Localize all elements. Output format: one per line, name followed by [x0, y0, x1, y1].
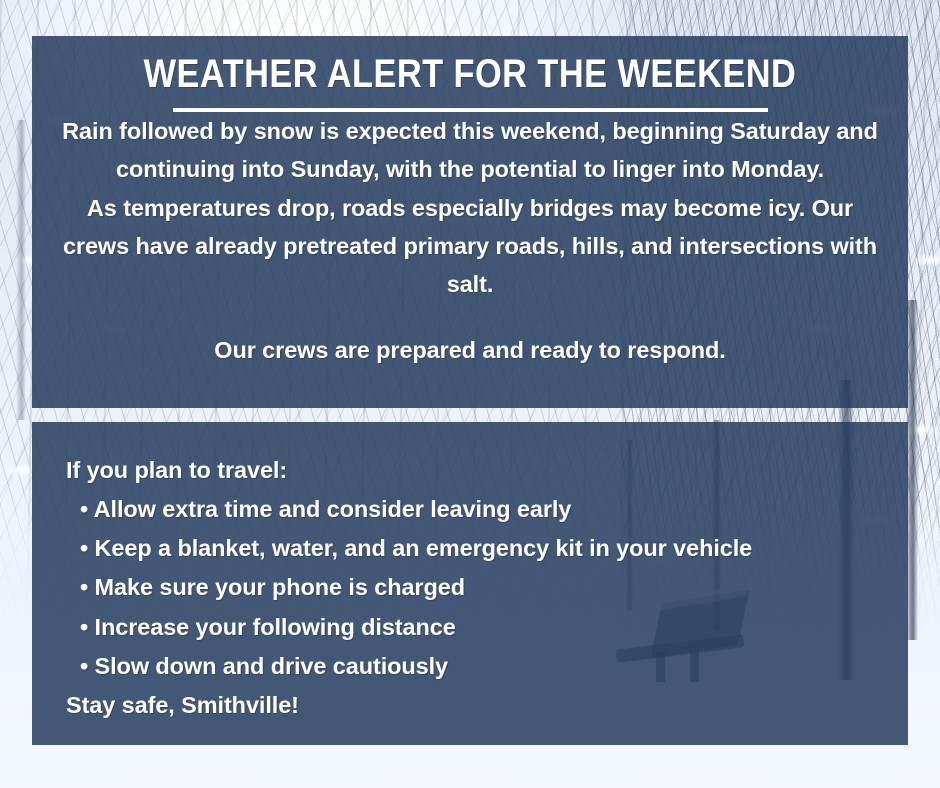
- travel-tips-panel: If you plan to travel: • Allow extra tim…: [32, 422, 908, 745]
- list-item: • Increase your following distance: [80, 609, 882, 646]
- travel-tips-list: • Allow extra time and consider leaving …: [58, 491, 882, 685]
- alert-title-block: WEATHER ALERT FOR THE WEEKEND: [58, 54, 882, 112]
- alert-title: WEATHER ALERT FOR THE WEEKEND: [116, 54, 825, 94]
- list-item: • Keep a blanket, water, and an emergenc…: [80, 530, 882, 567]
- travel-tips-heading: If you plan to travel:: [66, 452, 882, 489]
- list-item: • Allow extra time and consider leaving …: [80, 491, 882, 528]
- alert-panel: WEATHER ALERT FOR THE WEEKEND Rain follo…: [32, 36, 908, 408]
- alert-paragraph-3: Our crews are prepared and ready to resp…: [58, 331, 882, 369]
- tree-trunk: [16, 120, 26, 420]
- list-item: • Slow down and drive cautiously: [80, 648, 882, 685]
- travel-tips-block: If you plan to travel: • Allow extra tim…: [58, 452, 882, 724]
- list-item: • Make sure your phone is charged: [80, 569, 882, 606]
- alert-paragraph-1: Rain followed by snow is expected this w…: [58, 112, 882, 188]
- alert-paragraph-2: As temperatures drop, roads especially b…: [58, 189, 882, 303]
- closing-message: Stay safe, Smithville!: [66, 687, 882, 724]
- weather-alert-poster: WEATHER ALERT FOR THE WEEKEND Rain follo…: [0, 0, 940, 788]
